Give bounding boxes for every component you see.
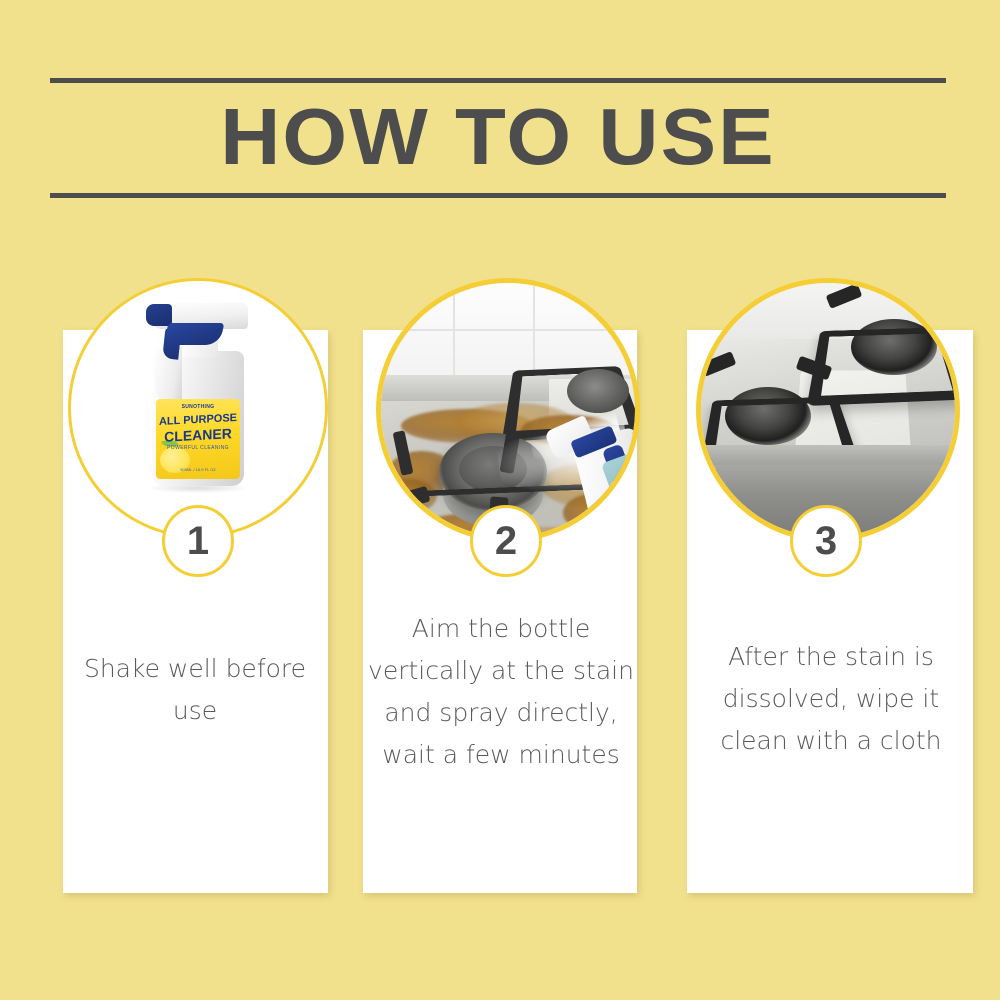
label-line-4: 500ML / 16.9 FL OZ	[156, 467, 240, 472]
label-brand: SUNOTHING	[156, 404, 240, 410]
step-badge-1: 1	[162, 505, 234, 577]
bottle-label: SUNOTHING ALL PURPOSE CLEANER POWERFUL C…	[156, 399, 240, 479]
clean-stove-scene	[701, 283, 955, 537]
tile-grout-line	[533, 283, 535, 379]
step-1-image: SUNOTHING ALL PURPOSE CLEANER POWERFUL C…	[68, 278, 328, 538]
bottle-scene: SUNOTHING ALL PURPOSE CLEANER POWERFUL C…	[71, 281, 325, 535]
step-badge-3: 3	[790, 505, 862, 577]
dirty-stove-illustration	[381, 283, 635, 537]
spray-bottle-illustration: SUNOTHING ALL PURPOSE CLEANER POWERFUL C…	[71, 281, 325, 535]
tile-grout-line	[453, 283, 455, 379]
step-3-image	[696, 278, 960, 542]
bottle-trigger	[164, 323, 225, 345]
label-line-3: POWERFUL CLEANING	[156, 445, 240, 451]
dirty-stove-scene	[381, 283, 635, 537]
step-badge-2: 2	[470, 505, 542, 577]
bottle-nozzle	[146, 304, 172, 326]
label-line-2: CLEANER	[156, 425, 240, 445]
step-caption-3: After the stain is dissolved, wipe it cl…	[692, 636, 970, 762]
step-caption-1: Shake well before use	[70, 648, 320, 732]
cooktop-front-edge	[701, 445, 955, 467]
step-caption-2: Aim the bottle vertically at the stain a…	[366, 608, 636, 776]
tile-grout-line	[381, 329, 635, 331]
steps-container: SUNOTHING ALL PURPOSE CLEANER POWERFUL C…	[0, 0, 1000, 1000]
clean-stove-illustration	[701, 283, 955, 537]
step-2-image	[376, 278, 640, 542]
tile-wall	[381, 283, 635, 379]
